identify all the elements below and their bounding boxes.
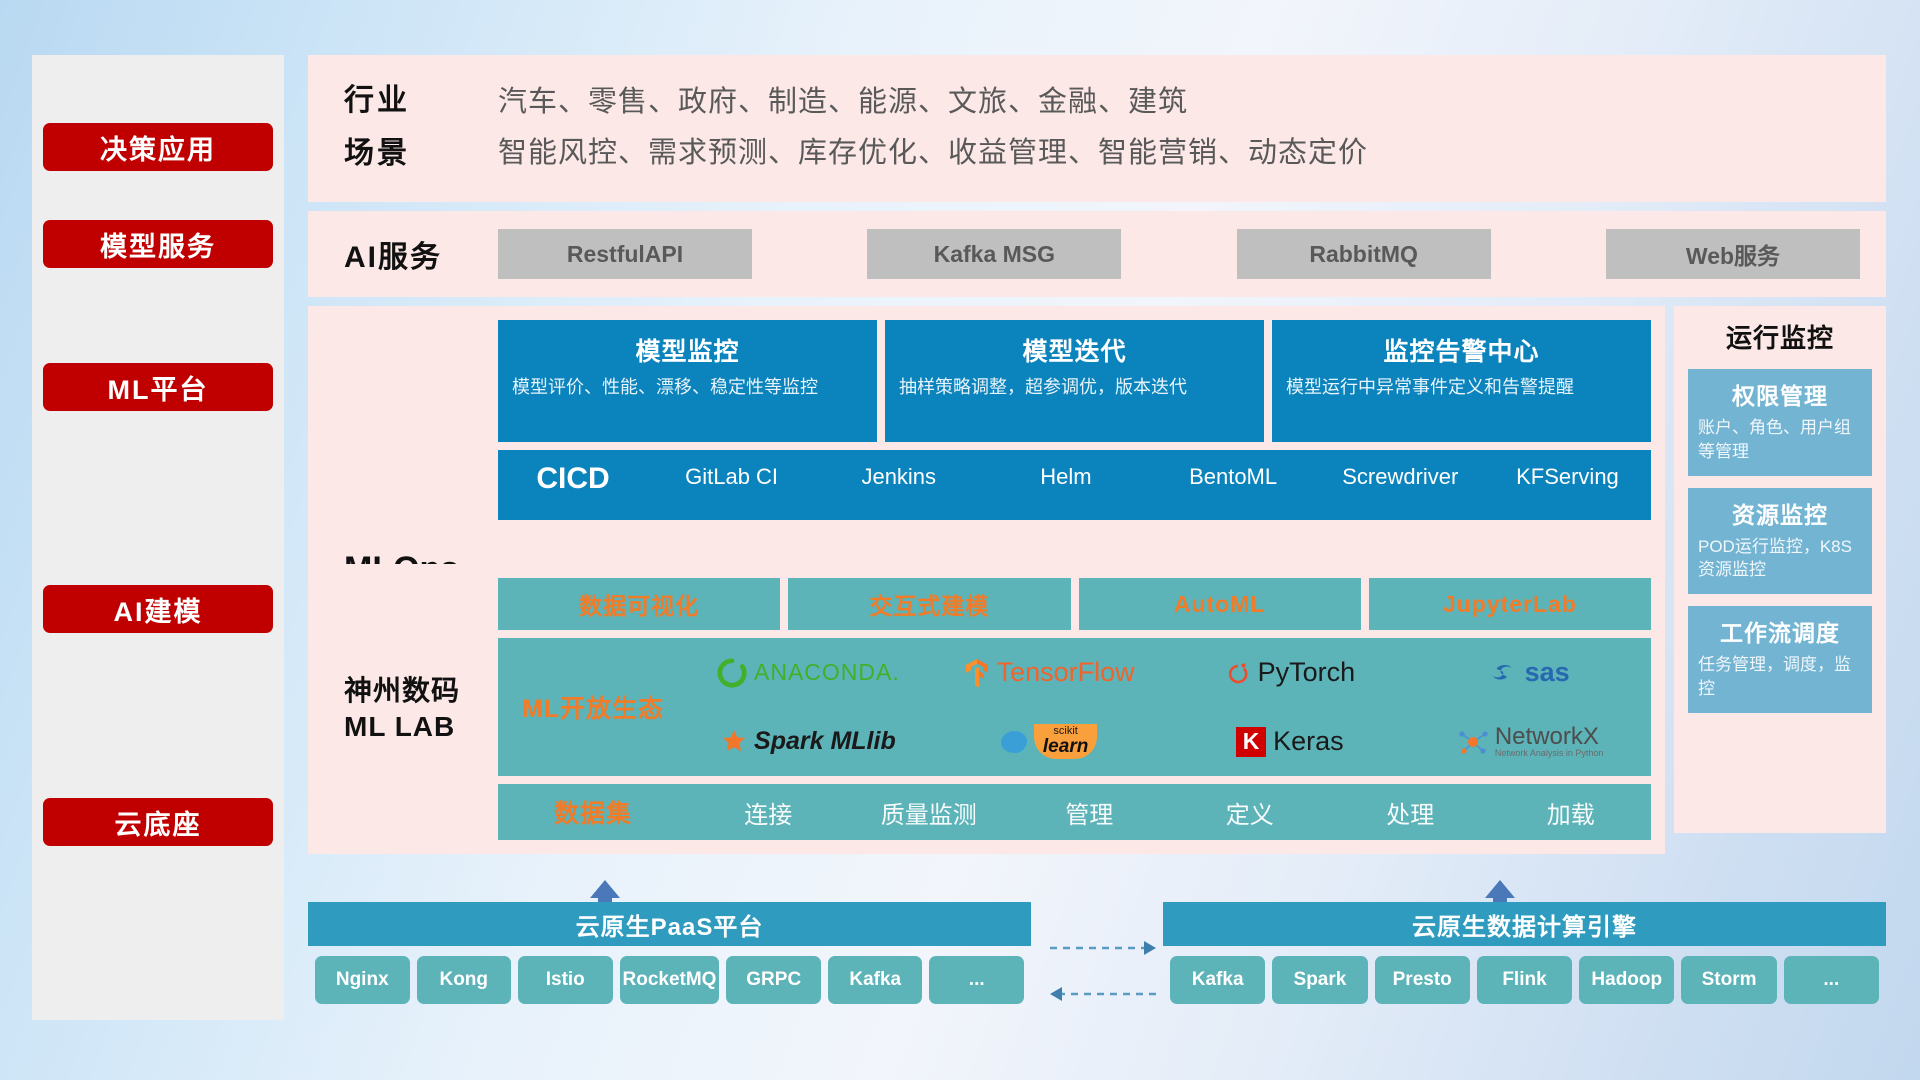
cicd-bar: CICD GitLab CI Jenkins Helm BentoML Scre… — [498, 450, 1651, 520]
mllab-stack: 数据可视化 交互式建模 AutoML JupyterLab ML开放生态 — [498, 578, 1651, 840]
mlops-card-title: 监控告警中心 — [1286, 332, 1637, 368]
runtime-monitor-title: 运行监控 — [1688, 318, 1872, 355]
monitor-card-permission[interactable]: 权限管理 账户、角色、用户组等管理 — [1688, 369, 1872, 476]
logo-pytorch-text: PyTorch — [1258, 657, 1356, 688]
paas-title: 云原生PaaS平台 — [308, 902, 1031, 946]
logo-anaconda-text: ANACONDA. — [754, 659, 900, 686]
cicd-label: CICD — [498, 462, 648, 495]
industry-label: 行业 — [344, 75, 498, 128]
engine-chip-flink[interactable]: Flink — [1477, 956, 1572, 1004]
scene-label: 场景 — [344, 128, 498, 181]
tool-data-visualization[interactable]: 数据可视化 — [498, 578, 780, 630]
dataset-item[interactable]: 处理 — [1330, 795, 1491, 830]
paas-chip-rocketmq[interactable]: RocketMQ — [620, 956, 720, 1004]
paas-chip-nginx[interactable]: Nginx — [315, 956, 410, 1004]
paas-chip-more[interactable]: ... — [929, 956, 1024, 1004]
ai-service-chip[interactable]: RestfulAPI — [498, 229, 752, 279]
engine-chip-hadoop[interactable]: Hadoop — [1579, 956, 1674, 1004]
keras-icon: K — [1236, 727, 1266, 757]
mlops-card-alert-center[interactable]: 监控告警中心 模型运行中异常事件定义和告警提醒 — [1272, 320, 1651, 442]
compute-engine-title: 云原生数据计算引擎 — [1163, 902, 1886, 946]
ml-ecosystem-panel: ML开放生态 ANACONDA. — [498, 638, 1651, 776]
monitor-card-title: 资源监控 — [1698, 496, 1862, 530]
spark-star-icon — [721, 729, 747, 755]
logo-sas-text: sas — [1525, 657, 1570, 688]
mllab-label-line1: 神州数码 — [344, 673, 498, 709]
dataset-item[interactable]: 连接 — [688, 795, 849, 830]
bidirectional-link-icon — [1048, 932, 1158, 1006]
scikit-blob-icon — [1001, 731, 1027, 753]
rail-item-decision-app[interactable]: 决策应用 — [43, 123, 273, 171]
logo-tensorflow: TensorFlow — [964, 657, 1135, 688]
mlops-card-desc: 抽样策略调整，超参调优，版本迭代 — [899, 374, 1250, 400]
cicd-item[interactable]: GitLab CI — [648, 462, 815, 492]
rail-label: 决策应用 — [100, 128, 216, 167]
industry-scene-band: 行业 场景 汽车、零售、政府、制造、能源、文旅、金融、建筑 智能风控、需求预测、… — [308, 55, 1886, 202]
rail-label: AI建模 — [114, 590, 203, 629]
industry-scene-labels: 行业 场景 — [308, 75, 498, 180]
logo-tensorflow-text: TensorFlow — [997, 657, 1135, 688]
mllab-label: 神州数码 ML LAB — [308, 578, 498, 840]
ai-service-chip[interactable]: Web服务 — [1606, 229, 1860, 279]
mlops-card-desc: 模型评价、性能、漂移、稳定性等监控 — [512, 374, 863, 400]
logo-anaconda: ANACONDA. — [717, 658, 900, 688]
rail-item-cloud-base[interactable]: 云底座 — [43, 798, 273, 846]
cicd-item[interactable]: Helm — [982, 462, 1149, 492]
left-rail: 决策应用 模型服务 ML平台 AI建模 云底座 — [32, 55, 284, 1020]
logo-networkx: NetworkX Network Analysis in Python — [1458, 724, 1604, 759]
dataset-label: 数据集 — [498, 794, 688, 830]
monitor-card-title: 工作流调度 — [1698, 614, 1862, 648]
ai-service-label: AI服务 — [308, 232, 498, 276]
mlops-card-title: 模型迭代 — [899, 332, 1250, 368]
rail-label: 模型服务 — [100, 225, 216, 264]
compute-engine-chips: Kafka Spark Presto Flink Hadoop Storm ..… — [1163, 946, 1886, 1004]
paas-chip-kafka[interactable]: Kafka — [828, 956, 923, 1004]
engine-chip-spark[interactable]: Spark — [1272, 956, 1367, 1004]
engine-chip-more[interactable]: ... — [1784, 956, 1879, 1004]
logo-sas: sas — [1492, 657, 1570, 688]
dataset-item[interactable]: 定义 — [1170, 795, 1331, 830]
cicd-item[interactable]: BentoML — [1150, 462, 1317, 492]
paas-group: 云原生PaaS平台 Nginx Kong Istio RocketMQ GRPC… — [308, 902, 1031, 1004]
dataset-item[interactable]: 管理 — [1009, 795, 1170, 830]
tool-jupyterlab[interactable]: JupyterLab — [1369, 578, 1651, 630]
ml-ecosystem-logos: ANACONDA. TensorFlow — [688, 638, 1651, 776]
dataset-item[interactable]: 质量监测 — [849, 795, 1010, 830]
paas-chip-istio[interactable]: Istio — [518, 956, 613, 1004]
mlops-card-model-iteration[interactable]: 模型迭代 抽样策略调整，超参调优，版本迭代 — [885, 320, 1264, 442]
dataset-bar: 数据集 连接 质量监测 管理 定义 处理 加载 — [498, 784, 1651, 840]
dataset-item[interactable]: 加载 — [1491, 795, 1652, 830]
rail-label: ML平台 — [108, 368, 209, 407]
logo-keras: K Keras — [1236, 726, 1344, 757]
mllab-band: 神州数码 ML LAB 数据可视化 交互式建模 AutoML JupyterLa… — [308, 564, 1665, 854]
runtime-monitor-column: 运行监控 权限管理 账户、角色、用户组等管理 资源监控 POD运行监控，K8S资… — [1674, 306, 1886, 833]
monitor-card-desc: POD运行监控，K8S资源监控 — [1698, 535, 1862, 583]
monitor-card-desc: 任务管理，调度，监控 — [1698, 653, 1862, 701]
logo-keras-text: Keras — [1273, 726, 1344, 757]
networkx-icon — [1458, 728, 1488, 756]
paas-chip-kong[interactable]: Kong — [417, 956, 512, 1004]
ai-service-band: AI服务 RestfulAPI Kafka MSG RabbitMQ Web服务 — [308, 211, 1886, 297]
mlops-card-desc: 模型运行中异常事件定义和告警提醒 — [1286, 374, 1637, 400]
logo-networkx-text: NetworkX — [1495, 724, 1604, 749]
cicd-item[interactable]: KFServing — [1484, 462, 1651, 492]
anaconda-icon — [717, 658, 747, 688]
pytorch-icon — [1225, 658, 1251, 688]
rail-item-ml-platform[interactable]: ML平台 — [43, 363, 273, 411]
sas-icon — [1492, 660, 1518, 686]
ml-ecosystem-label: ML开放生态 — [498, 638, 688, 776]
mllab-row-wrap: 神州数码 ML LAB 数据可视化 交互式建模 AutoML JupyterLa… — [308, 564, 1665, 854]
ai-service-chip[interactable]: RabbitMQ — [1237, 229, 1491, 279]
logo-scikit-learn: scikit learn — [1001, 724, 1097, 759]
monitor-card-desc: 账户、角色、用户组等管理 — [1698, 416, 1862, 464]
rail-item-model-service[interactable]: 模型服务 — [43, 220, 273, 268]
rail-item-ai-modeling[interactable]: AI建模 — [43, 585, 273, 633]
industry-value: 汽车、零售、政府、制造、能源、文旅、金融、建筑 — [498, 77, 1886, 128]
tensorflow-icon — [964, 658, 990, 688]
monitor-card-title: 权限管理 — [1698, 377, 1862, 411]
cicd-item[interactable]: Jenkins — [815, 462, 982, 492]
logo-spark-text: Spark MLlib — [754, 727, 896, 756]
mllab-tools: 数据可视化 交互式建模 AutoML JupyterLab — [498, 578, 1651, 630]
diagram-canvas: 决策应用 模型服务 ML平台 AI建模 云底座 行业 场景 汽车、零售、政府、制… — [0, 0, 1920, 1080]
tool-interactive-modeling[interactable]: 交互式建模 — [788, 578, 1070, 630]
paas-chip-grpc[interactable]: GRPC — [726, 956, 821, 1004]
main-column: 行业 场景 汽车、零售、政府、制造、能源、文旅、金融、建筑 智能风控、需求预测、… — [308, 55, 1886, 854]
rail-label: 云底座 — [115, 803, 202, 842]
logo-spark-mllib: Spark MLlib — [721, 727, 896, 756]
mlops-card-model-monitor[interactable]: 模型监控 模型评价、性能、漂移、稳定性等监控 — [498, 320, 877, 442]
engine-chip-presto[interactable]: Presto — [1375, 956, 1470, 1004]
cloud-foundation: 云原生PaaS平台 Nginx Kong Istio RocketMQ GRPC… — [308, 880, 1886, 1030]
mlops-cards: 模型监控 模型评价、性能、漂移、稳定性等监控 模型迭代 抽样策略调整，超参调优，… — [498, 320, 1651, 442]
industry-scene-values: 汽车、零售、政府、制造、能源、文旅、金融、建筑 智能风控、需求预测、库存优化、收… — [498, 77, 1886, 179]
logo-networkx-tagline: Network Analysis in Python — [1495, 749, 1604, 758]
logo-learn-text: learn — [1043, 737, 1088, 756]
mllab-label-line2: ML LAB — [344, 709, 498, 745]
logo-pytorch: PyTorch — [1225, 657, 1356, 688]
engine-chip-kafka[interactable]: Kafka — [1170, 956, 1265, 1004]
cicd-item[interactable]: Screwdriver — [1317, 462, 1484, 492]
monitor-card-resource[interactable]: 资源监控 POD运行监控，K8S资源监控 — [1688, 488, 1872, 595]
monitor-card-workflow[interactable]: 工作流调度 任务管理，调度，监控 — [1688, 606, 1872, 713]
ai-service-chip[interactable]: Kafka MSG — [867, 229, 1121, 279]
tool-automl[interactable]: AutoML — [1079, 578, 1361, 630]
paas-chips: Nginx Kong Istio RocketMQ GRPC Kafka ... — [308, 946, 1031, 1004]
mlops-card-title: 模型监控 — [512, 332, 863, 368]
compute-engine-group: 云原生数据计算引擎 Kafka Spark Presto Flink Hadoo… — [1163, 902, 1886, 1004]
scene-value: 智能风控、需求预测、库存优化、收益管理、智能营销、动态定价 — [498, 128, 1886, 179]
engine-chip-storm[interactable]: Storm — [1681, 956, 1776, 1004]
ai-service-chips: RestfulAPI Kafka MSG RabbitMQ Web服务 — [498, 229, 1860, 279]
